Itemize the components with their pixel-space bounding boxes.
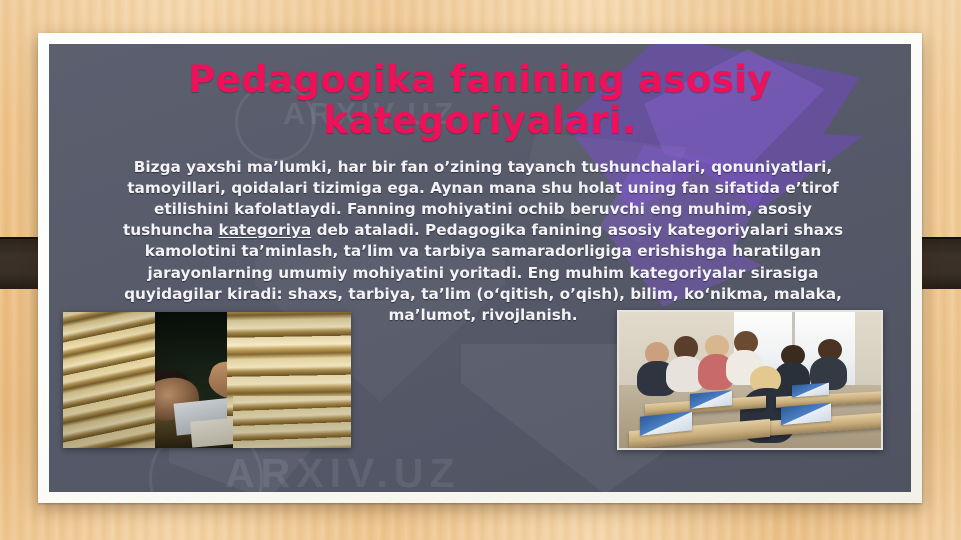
classroom-laptop xyxy=(781,402,831,424)
photo-classroom xyxy=(617,310,883,450)
slide-canvas: ARXIV.UZ Pedagogika fanining asosiy kate… xyxy=(49,44,911,492)
body-keyword-kategoriya: kategoriya xyxy=(219,221,312,239)
photo-books-vignette xyxy=(63,312,351,448)
photo-books-desk xyxy=(63,312,351,448)
slide-frame: ARXIV.UZ Pedagogika fanining asosiy kate… xyxy=(38,33,922,503)
watermark-text-bottom: ARXIV.UZ xyxy=(225,450,461,492)
presentation-stage: ARXIV.UZ Pedagogika fanining asosiy kate… xyxy=(0,0,961,540)
slide-title: Pedagogika fanining asosiy kategoriyalar… xyxy=(85,60,875,141)
slide-body-text: Bizga yaxshi ma’lumki, har bir fan o’zin… xyxy=(107,157,859,326)
